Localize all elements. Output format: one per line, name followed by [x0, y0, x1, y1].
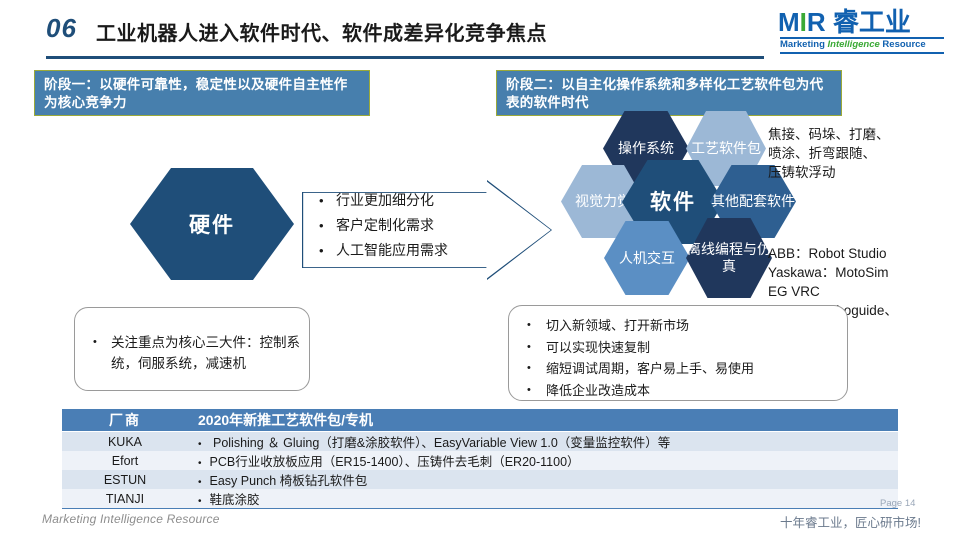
column-header-vendor: 厂商 [62, 409, 188, 432]
cell-package: •鞋底涂胶 [188, 489, 898, 509]
page-number: Page 14 [880, 498, 915, 509]
footer-brand: Marketing Intelligence Resource [42, 512, 220, 526]
transition-arrow-bullets: 行业更加细分化 客户定制化需求 人工智能应用需求 [316, 188, 526, 263]
cell-vendor: TIANJI [62, 489, 188, 509]
table-row: KUKA • Polishing ＆ Gluing（打磨&涂胶软件）、EasyV… [62, 432, 898, 452]
column-header-package: 2020年新推工艺软件包/专机 [188, 409, 898, 432]
page-title: 工业机器人进入软件时代、软件成差异化竞争焦点 [96, 17, 547, 46]
stage-one-banner: 阶段一：以硬件可靠性，稳定性以及硬件自主性作为核心竞争力 [34, 70, 370, 116]
cell-vendor: Efort [62, 451, 188, 470]
list-item: 行业更加细分化 [316, 188, 526, 213]
hardware-callout: 关注重点为核心三大件：控制系统，伺服系统，减速机 [74, 307, 310, 391]
list-item: 切入新领域、打开新市场 [521, 315, 843, 337]
list-item: 关注重点为核心三大件：控制系统，伺服系统，减速机 [89, 332, 301, 374]
application-list: 焦接、码垛、打磨、喷涂、折弯跟随、压铸软浮动 [768, 125, 890, 182]
cell-package-text: PCB行业收放板应用（ER15-1400）、压铸件去毛刺（ER20-1100） [210, 455, 580, 469]
list-item: 人工智能应用需求 [316, 238, 526, 263]
bullet-icon: • [198, 477, 202, 488]
list-item: 缩短调试周期，客户易上手、易使用 [521, 358, 843, 380]
cell-package-text: Polishing ＆ Gluing（打磨&涂胶软件）、EasyVariable… [210, 436, 671, 450]
hardware-hexagon: 硬件 [130, 168, 294, 280]
logo-tagline-resource: Resource [880, 39, 926, 50]
bullet-icon: • [198, 439, 202, 450]
bullet-icon: • [198, 496, 202, 507]
software-hexagon-cluster: 操作系统 工艺软件包 视觉力觉 软件 其他配套软件 人机交互 离线编程与仿真 [560, 110, 780, 310]
software-benefits-text: 切入新领域、打开新市场 可以实现快速复制 缩短调试周期，客户易上手、易使用 降低… [521, 315, 843, 401]
logo-r-cn: R 睿工业 [807, 7, 911, 37]
logo-wordmark: MIR 睿工业 [778, 8, 946, 36]
header-divider [46, 56, 764, 59]
cell-vendor: KUKA [62, 432, 188, 452]
software-package-table: 厂商 2020年新推工艺软件包/专机 KUKA • Polishing ＆ Gl… [62, 409, 898, 509]
logo-tagline-marketing: Marketing [780, 39, 828, 50]
table-row: Efort •PCB行业收放板应用（ER15-1400）、压铸件去毛刺（ER20… [62, 451, 898, 470]
table-header-row: 厂商 2020年新推工艺软件包/专机 [62, 409, 898, 432]
table-row: TIANJI •鞋底涂胶 [62, 489, 898, 509]
cell-vendor: ESTUN [62, 470, 188, 489]
mir-logo: MIR 睿工业 Marketing Intelligence Resource [778, 8, 946, 54]
logo-tagline: Marketing Intelligence Resource [780, 39, 946, 50]
logo-rule-bottom [780, 52, 944, 54]
list-item: 客户定制化需求 [316, 213, 526, 238]
cell-package: • Polishing ＆ Gluing（打磨&涂胶软件）、EasyVariab… [188, 432, 898, 452]
logo-m: M [778, 7, 800, 37]
software-benefits-callout: 切入新领域、打开新市场 可以实现快速复制 缩短调试周期，客户易上手、易使用 降低… [508, 305, 848, 401]
hardware-callout-text: 关注重点为核心三大件：控制系统，伺服系统，减速机 [89, 332, 301, 374]
logo-i: I [800, 7, 807, 37]
cell-package-text: Easy Punch 椅板钻孔软件包 [210, 474, 368, 488]
footer-tagline: 十年睿工业，匠心研市场! [780, 512, 921, 531]
cell-package: •Easy Punch 椅板钻孔软件包 [188, 470, 898, 489]
logo-tagline-intelligence: Intelligence [828, 39, 880, 50]
cell-package-text: 鞋底涂胶 [210, 493, 260, 507]
cell-package: •PCB行业收放板应用（ER15-1400）、压铸件去毛刺（ER20-1100） [188, 451, 898, 470]
bullet-icon: • [198, 458, 202, 469]
table-row: ESTUN •Easy Punch 椅板钻孔软件包 [62, 470, 898, 489]
list-item: 降低企业改造成本 [521, 380, 843, 402]
hardware-hexagon-label: 硬件 [130, 168, 294, 280]
slide: 06 工业机器人进入软件时代、软件成差异化竞争焦点 MIR 睿工业 Market… [0, 0, 960, 540]
section-number: 06 [46, 13, 77, 44]
list-item: 可以实现快速复制 [521, 337, 843, 359]
